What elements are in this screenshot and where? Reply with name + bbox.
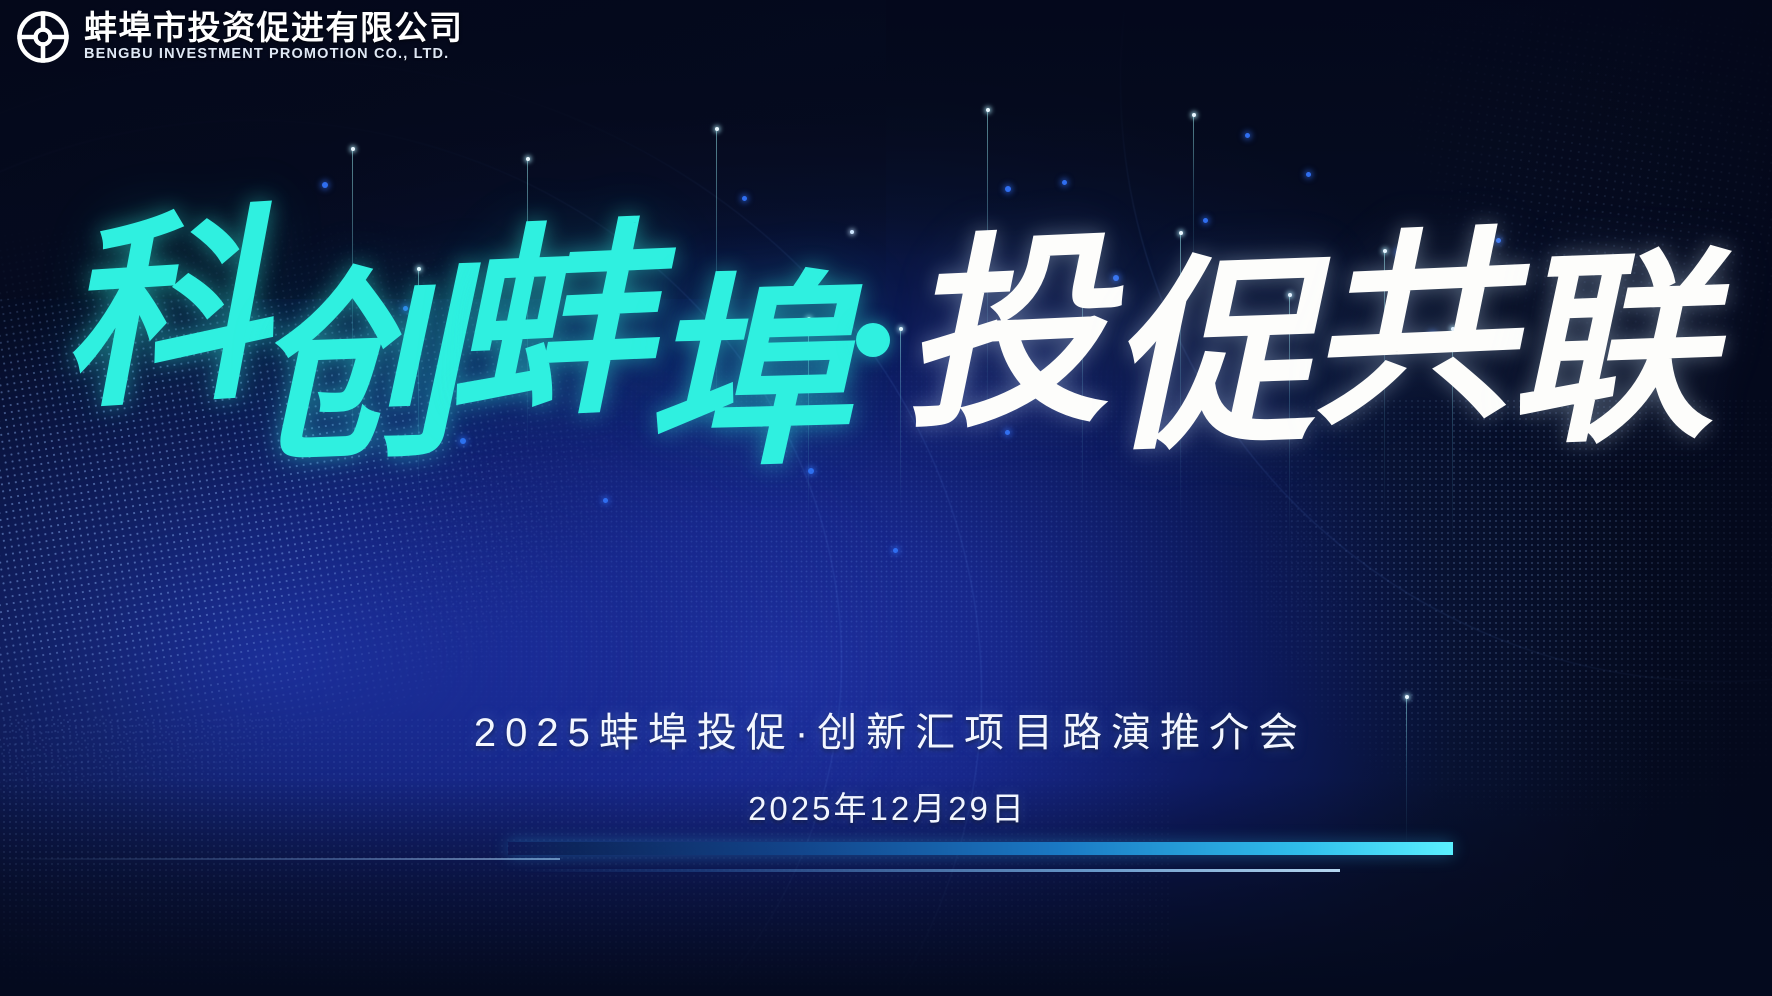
accent-line-left: [0, 858, 560, 860]
company-logo: 蚌埠市投资促进有限公司 BENGBU INVESTMENT PROMOTION …: [12, 6, 464, 68]
spark-dot: [893, 548, 898, 553]
headline-char-1: 科: [54, 212, 270, 413]
poster-canvas: 蚌埠市投资促进有限公司 BENGBU INVESTMENT PROMOTION …: [0, 0, 1772, 996]
accent-bar-primary: [508, 842, 1453, 855]
headline: 科 创 蚌 埠 投 促 共 联: [0, 196, 1772, 496]
headline-char-5: 投: [898, 235, 1111, 432]
company-name-cn: 蚌埠市投资促进有限公司: [84, 11, 464, 46]
headline-separator-dot: [856, 323, 890, 357]
headline-char-8: 联: [1504, 252, 1715, 448]
event-date: 2025年12月29日: [0, 782, 1772, 830]
headline-char-6: 促: [1104, 258, 1315, 454]
company-name-block: 蚌埠市投资促进有限公司 BENGBU INVESTMENT PROMOTION …: [84, 11, 464, 63]
headline-char-2: 创: [248, 270, 459, 466]
headline-char-4: 埠: [641, 277, 851, 471]
spark-dot: [1005, 186, 1011, 192]
accent-bar-secondary: [520, 869, 1340, 872]
spark-dot: [1062, 180, 1067, 185]
event-subtitle: 2025蚌埠投促·创新汇项目路演推介会: [0, 700, 1772, 758]
spark-dot: [603, 498, 608, 503]
headline-char-3: 蚌: [442, 225, 655, 422]
spark-dot: [1306, 172, 1311, 177]
spark-dot: [322, 182, 328, 188]
headline-char-7: 共: [1304, 231, 1517, 428]
spark-dot: [1245, 133, 1250, 138]
pinwheel-circle-logo-icon: [12, 6, 74, 68]
company-name-en: BENGBU INVESTMENT PROMOTION CO., LTD.: [84, 47, 464, 63]
